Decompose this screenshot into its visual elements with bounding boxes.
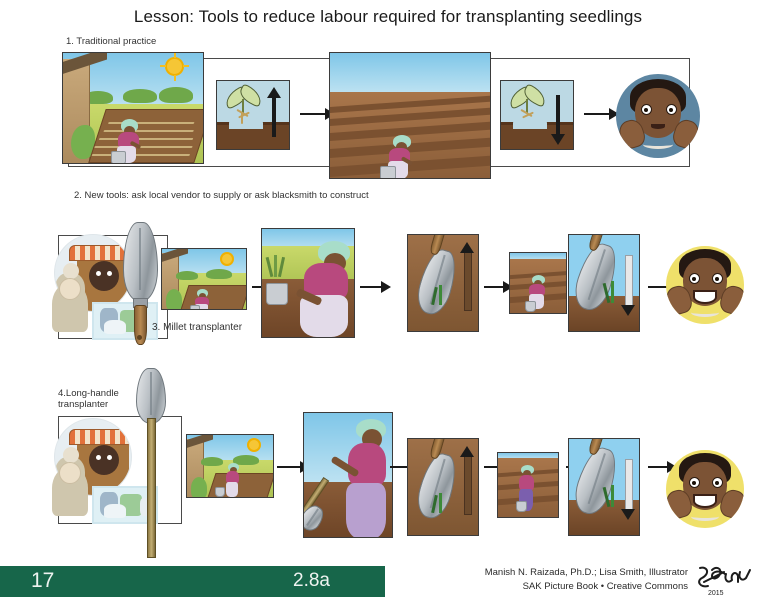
vendor-head [89,445,119,475]
bush [159,87,193,103]
label-line-1: 4.Long-handle [58,388,119,399]
sun-icon [167,59,182,74]
sun-ray [183,65,189,67]
tool-pole [147,418,156,558]
row3-nursery-bed-scene [186,434,274,498]
customer-head [59,278,81,300]
arrow-down-icon [625,459,633,511]
tool-blade [123,222,158,302]
row3-long-handle-transplanter-tool [130,368,170,558]
soil-hole [513,117,547,129]
arrow-up-icon [464,455,472,515]
section-label-traditional-practice: 1. Traditional practice [66,36,156,47]
flow-arrow [648,466,668,468]
credit-line-1: Manish N. Raizada, Ph.D.; Lisa Smith, Il… [485,566,688,580]
flow-arrow [484,286,504,288]
credit-line-2: SAK Picture Book • Creative Commons [485,580,688,594]
tool-blade [136,368,166,424]
arrow-up-icon [464,251,472,311]
arrow-down-icon [556,95,560,135]
row1-ploughed-field-scene [329,52,491,179]
page-number: 17 [31,569,54,593]
sun-ray [160,65,166,67]
row3-field-transplanting-scene [497,452,559,518]
row3-tool-plant-diagram [568,438,640,536]
row1-sad-farmer-face [616,74,700,158]
row3-happy-farmer-face [666,450,744,528]
flow-arrow [648,286,668,288]
customer-head [59,462,81,484]
row2-nursery-bed-scene [161,248,247,310]
seedling [439,493,442,513]
section-label-millet-transplanter: 3. Millet transplanter [152,322,242,334]
row1-nursery-bed-scene [62,52,204,164]
connector-line-right [181,416,182,524]
farmer-figure [111,119,145,164]
row1-uproot-seedling-diagram [216,80,290,150]
row2-tool-plant-diagram [568,234,640,332]
flow-arrow [277,466,301,468]
flow-arrow [360,286,382,288]
row2-tool-lift-diagram [407,234,479,332]
farmer-figure [334,419,393,538]
row3-standing-transplanting-scene [303,412,393,538]
sun-ray [174,52,176,58]
row2-happy-farmer-face [666,246,744,324]
arrow-up-icon [272,97,276,137]
seedling [439,285,442,305]
credits: Manish N. Raizada, Ph.D.; Lisa Smith, Il… [485,566,688,594]
arrow-down-icon [625,255,633,307]
seedling [611,485,614,507]
bush [123,89,157,103]
row3-tool-lift-diagram [407,438,479,536]
handle-hole [137,335,142,340]
illustrator-signature: 2015 [694,562,768,598]
farmer-figure [382,135,418,179]
lesson-poster: Lesson: Tools to reduce labour required … [0,0,776,600]
farmer-figure [290,241,354,337]
flow-arrow [584,113,610,115]
figure-number: 2.8a [293,570,330,592]
root [241,112,243,124]
flow-arrow [300,113,326,115]
row2-field-transplanting-scene [509,252,567,314]
seedbed [88,109,204,163]
row2-lifting-seedlings-scene [261,228,355,338]
soil-hole [229,117,263,129]
sky [330,53,490,94]
seedling [611,281,614,303]
sun-ray [174,75,176,81]
vendor-head [89,261,119,291]
label-line-2: transplanter [58,399,108,410]
row1-plant-seedling-diagram [500,80,574,150]
section-label-new-tools: 2. New tools: ask local vendor to supply… [74,190,369,201]
page-title: Lesson: Tools to reduce labour required … [0,7,776,27]
signature-year: 2015 [708,590,724,597]
